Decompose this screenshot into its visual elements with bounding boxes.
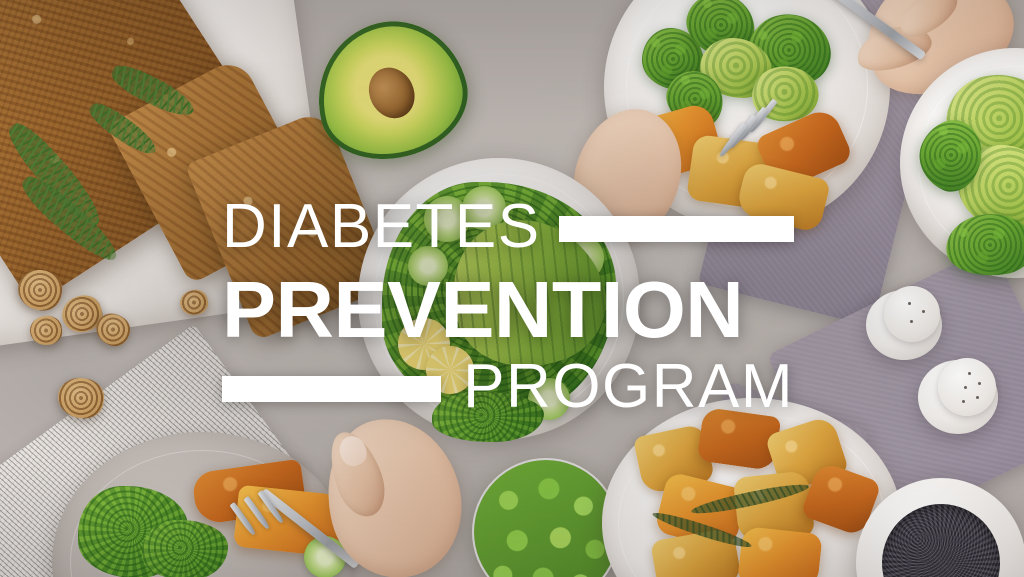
headline-word-prevention: PREVENTION xyxy=(222,270,801,350)
pepper-shaker xyxy=(918,360,998,434)
headline-block: DIABETES PREVENTION PROGRAM xyxy=(222,196,794,408)
headline-word-program: PROGRAM xyxy=(463,356,794,418)
avocado-pit xyxy=(360,60,422,126)
roasted-potato-8 xyxy=(737,526,822,577)
headline-word-diabetes: DIABETES xyxy=(222,196,541,258)
headline-line-1: DIABETES xyxy=(222,196,794,258)
accent-bar-top xyxy=(559,216,794,242)
plate-kale-2 xyxy=(142,520,228,577)
salt-shaker-cap xyxy=(884,286,940,342)
accent-bar-bottom xyxy=(222,376,441,402)
black-seeds xyxy=(882,504,1000,577)
headline-line-3: PROGRAM xyxy=(222,364,794,410)
pepper-shaker-cap xyxy=(938,358,996,416)
salt-shaker xyxy=(866,290,942,360)
diabetes-prevention-program-banner: DIABETES PREVENTION PROGRAM xyxy=(0,0,1024,577)
microgreens xyxy=(474,460,618,577)
headline-line-2: PREVENTION xyxy=(222,268,794,352)
